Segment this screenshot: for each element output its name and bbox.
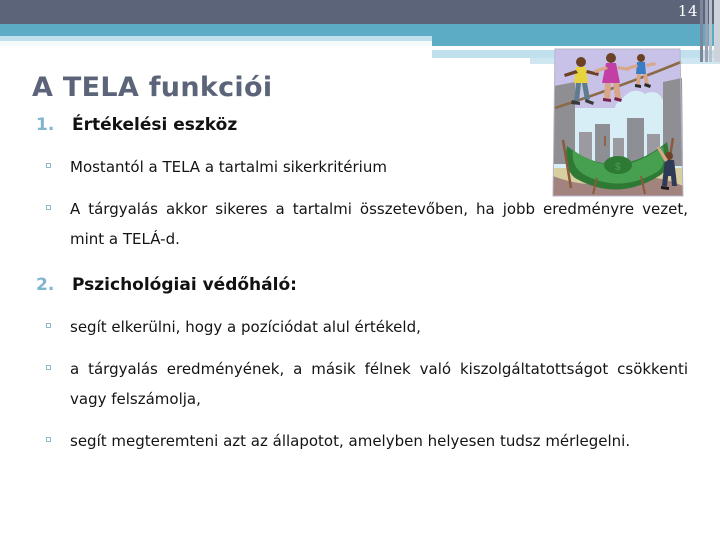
list-number-1: 1.	[36, 112, 66, 138]
bullet-text: A tárgyalás akkor sikeres a tartalmi öss…	[70, 194, 688, 254]
list-item-heading-2: 2. Pszichológiai védőháló:	[0, 272, 720, 298]
list-heading-text-2: Pszichológiai védőháló:	[72, 275, 297, 295]
header-vertical-stripe-3	[709, 0, 712, 62]
slide-body: 1. Értékelési eszköz Mostantól a TELA a …	[0, 112, 720, 460]
list-item: segít megteremteni azt az állapotot, ame…	[0, 426, 720, 456]
bullet-text: Mostantól a TELA a tartalmi sikerkritéri…	[70, 152, 688, 182]
square-bullet-icon	[46, 205, 51, 210]
list-item: A tárgyalás akkor sikeres a tartalmi öss…	[0, 194, 720, 254]
spacer	[0, 418, 720, 426]
spacer	[0, 346, 720, 354]
spacer	[0, 258, 720, 272]
list-item: segít elkerülni, hogy a pozíciódat alul …	[0, 312, 720, 342]
bullet-text: segít elkerülni, hogy a pozíciódat alul …	[70, 312, 688, 342]
list-item: a tárgyalás eredményének, a másik félnek…	[0, 354, 720, 414]
header-teal-band	[0, 24, 720, 36]
page-number: 14	[678, 2, 698, 20]
bullet-text: a tárgyalás eredményének, a másik félnek…	[70, 354, 688, 414]
list-heading-text-1: Értékelési eszköz	[72, 115, 237, 135]
header-vertical-stripe-4	[714, 0, 720, 62]
spacer	[0, 304, 720, 312]
square-bullet-icon	[46, 437, 51, 442]
square-bullet-icon	[46, 323, 51, 328]
header-vertical-stripe-1	[700, 0, 703, 62]
bullet-text: segít megteremteni azt az állapotot, ame…	[70, 426, 688, 456]
header-right-teal-accent	[432, 36, 720, 46]
header-vertical-stripe-2	[705, 0, 708, 62]
list-item-heading-1: 1. Értékelési eszköz	[0, 112, 720, 138]
header-dark-band	[0, 0, 720, 24]
list-item: Mostantól a TELA a tartalmi sikerkritéri…	[0, 152, 720, 182]
spacer	[0, 186, 720, 194]
page-title: A TELA funkciói	[32, 72, 272, 103]
square-bullet-icon	[46, 163, 51, 168]
spacer	[0, 144, 720, 152]
list-number-2: 2.	[36, 272, 66, 298]
square-bullet-icon	[46, 365, 51, 370]
